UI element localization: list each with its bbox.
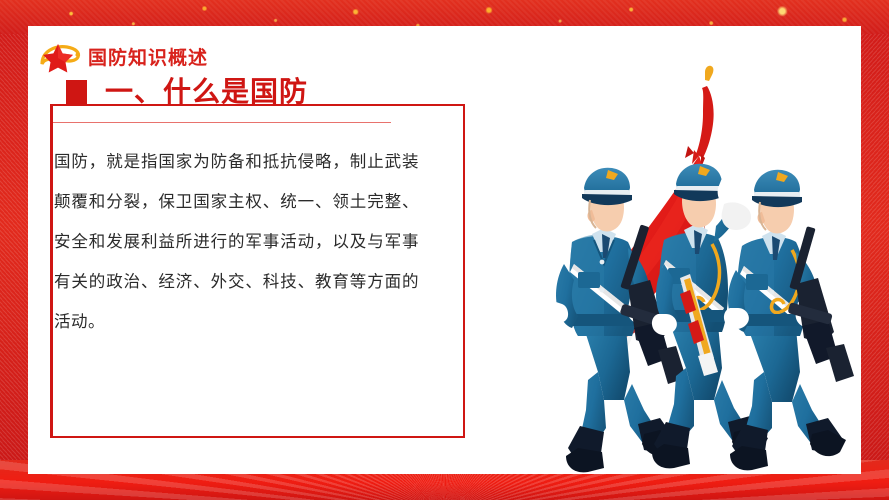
body-paragraph: 国防，就是指国家为防备和抵抗侵略，制止武装颠覆和分裂，保卫国家主权、统一、领土完…	[54, 142, 419, 342]
slide-header: 国防知识概述	[36, 38, 208, 78]
red-star-with-gold-ribbon-icon	[36, 38, 82, 78]
heading-divider	[53, 122, 391, 123]
slide-content-panel: 国防知识概述 一、什么是国防 国防，就是指国家为防备和抵抗侵略，制止武装颠覆和分…	[28, 26, 861, 474]
red-square-bullet-icon	[66, 80, 87, 105]
slide-title: 国防知识概述	[88, 49, 208, 68]
honor-guard-soldiers-with-flag-illustration	[508, 28, 858, 474]
frame-right-stripe-band	[857, 0, 889, 500]
section-heading-row: 一、什么是国防	[66, 78, 308, 106]
presentation-slide: 国防知识概述 一、什么是国防 国防，就是指国家为防备和抵抗侵略，制止武装颠覆和分…	[0, 0, 889, 500]
section-heading: 一、什么是国防	[105, 78, 308, 106]
